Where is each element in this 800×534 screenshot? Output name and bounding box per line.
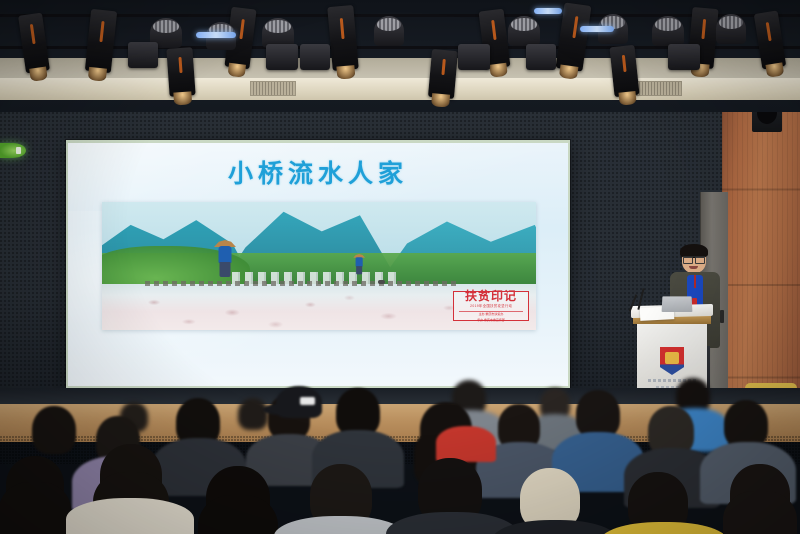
- photo-dog: [378, 280, 385, 284]
- photo-stamp-logo: 扶贫印记 2019年全国扶贫攻坚行动 主办 重庆市扶贫办 承办 重庆市委宣传部: [453, 291, 529, 321]
- cap-logo-icon: [300, 397, 315, 405]
- slide-photo: 扶贫印记 2019年全国扶贫攻坚行动 主办 重庆市扶贫办 承办 重庆市委宣传部: [102, 202, 536, 330]
- ceiling-vent: [636, 81, 682, 96]
- audience-head: [336, 388, 380, 436]
- walker-legs: [220, 262, 231, 277]
- photo-walker: [212, 240, 238, 280]
- stage-lamp: [327, 5, 358, 71]
- profile-lamp: [458, 44, 490, 70]
- photo-walker: [352, 254, 366, 276]
- audience-shoulders-yellow: [600, 522, 728, 534]
- audience-shoulders: [66, 498, 194, 534]
- stamp-credit-line-2: 承办 重庆市委宣传部: [459, 318, 523, 323]
- profile-lamp: [300, 44, 330, 70]
- exit-sign-icon: [0, 143, 26, 158]
- audience-head: [206, 466, 270, 532]
- stamp-title: 扶贫印记: [465, 290, 517, 302]
- audience-head: [238, 398, 268, 430]
- par-lamp: [652, 16, 684, 46]
- audience-head: [32, 406, 76, 454]
- photo-stone-path: [145, 281, 457, 286]
- baseball-cap: [276, 386, 322, 418]
- led-tube-light: [196, 32, 236, 38]
- podium-laptop: [662, 296, 693, 312]
- stage-lamp: [428, 49, 458, 99]
- audience-head: [730, 464, 790, 526]
- par-lamp: [374, 16, 404, 46]
- ceiling-vent: [250, 81, 296, 96]
- profile-lamp: [128, 42, 158, 68]
- audience-shoulders: [492, 520, 618, 534]
- stamp-subtitle: 2019年全国扶贫攻坚行动: [470, 304, 512, 309]
- audience-head: [6, 456, 64, 516]
- stage-lamp: [609, 45, 639, 97]
- audience-head: [576, 390, 620, 438]
- walker-torso: [219, 246, 232, 263]
- glasses-icon: [683, 256, 705, 261]
- audience-red-hoodie: [436, 426, 496, 462]
- led-tube-light: [534, 8, 562, 14]
- profile-lamp: [266, 44, 298, 70]
- auditorium-scene: 小桥流水人家 扶贫: [0, 0, 800, 534]
- slide-title: 小桥流水人家: [68, 154, 568, 190]
- speaker-lanyard: [694, 275, 696, 288]
- par-lamp: [508, 16, 540, 46]
- profile-lamp: [526, 44, 556, 70]
- par-lamp: [716, 14, 746, 44]
- ceiling-lighting-rig: [0, 0, 800, 112]
- truss-bar: [0, 14, 800, 17]
- led-tube-light: [580, 26, 614, 32]
- projection-screen: 小桥流水人家 扶贫: [68, 143, 568, 386]
- walker-legs: [356, 266, 362, 274]
- audience: [0, 372, 800, 534]
- stage-lamp: [166, 47, 195, 97]
- stamp-credit-line-1: 主办 重庆市扶贫办: [459, 311, 523, 317]
- profile-lamp: [668, 44, 700, 70]
- audience-head: [724, 400, 768, 448]
